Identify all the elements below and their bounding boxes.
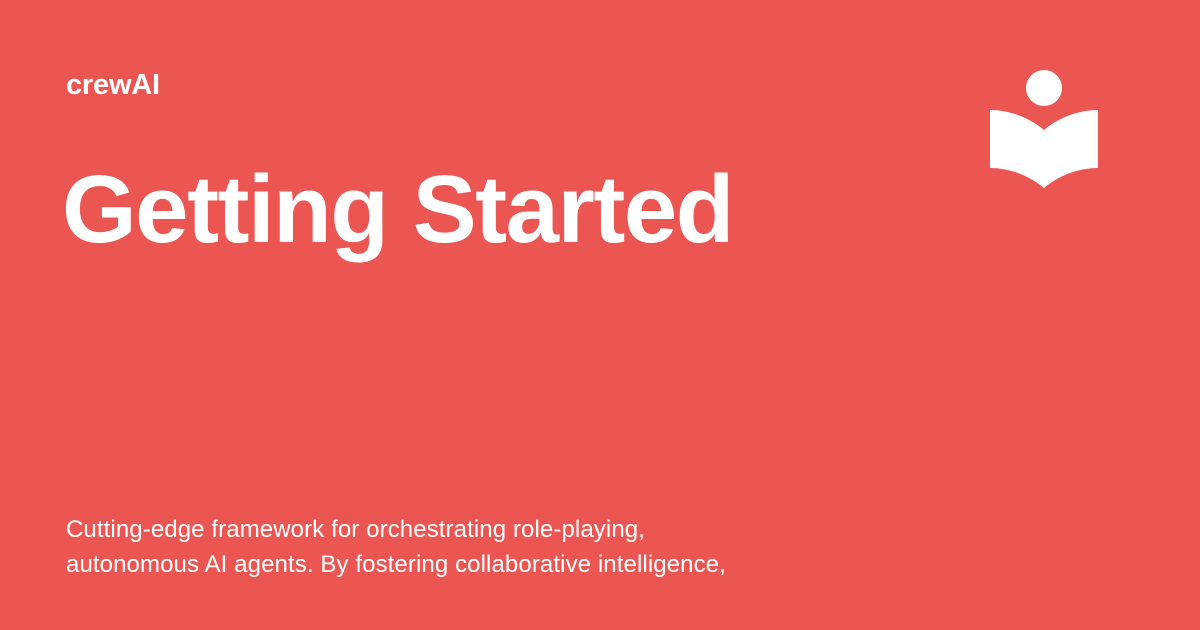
description-line-2: autonomous AI agents. By fostering colla… <box>66 547 896 582</box>
description-line-1: Cutting-edge framework for orchestrating… <box>66 512 896 547</box>
brand-logo-text: crewAI <box>66 71 160 100</box>
open-book-reader-icon <box>988 68 1100 192</box>
page-title: Getting Started <box>62 160 733 261</box>
reader-head-circle <box>1026 70 1062 106</box>
open-book-shape <box>990 110 1098 188</box>
page-description: Cutting-edge framework for orchestrating… <box>66 512 896 582</box>
og-card: crewAI Getting Started Cutting-edge fram… <box>0 0 1200 630</box>
